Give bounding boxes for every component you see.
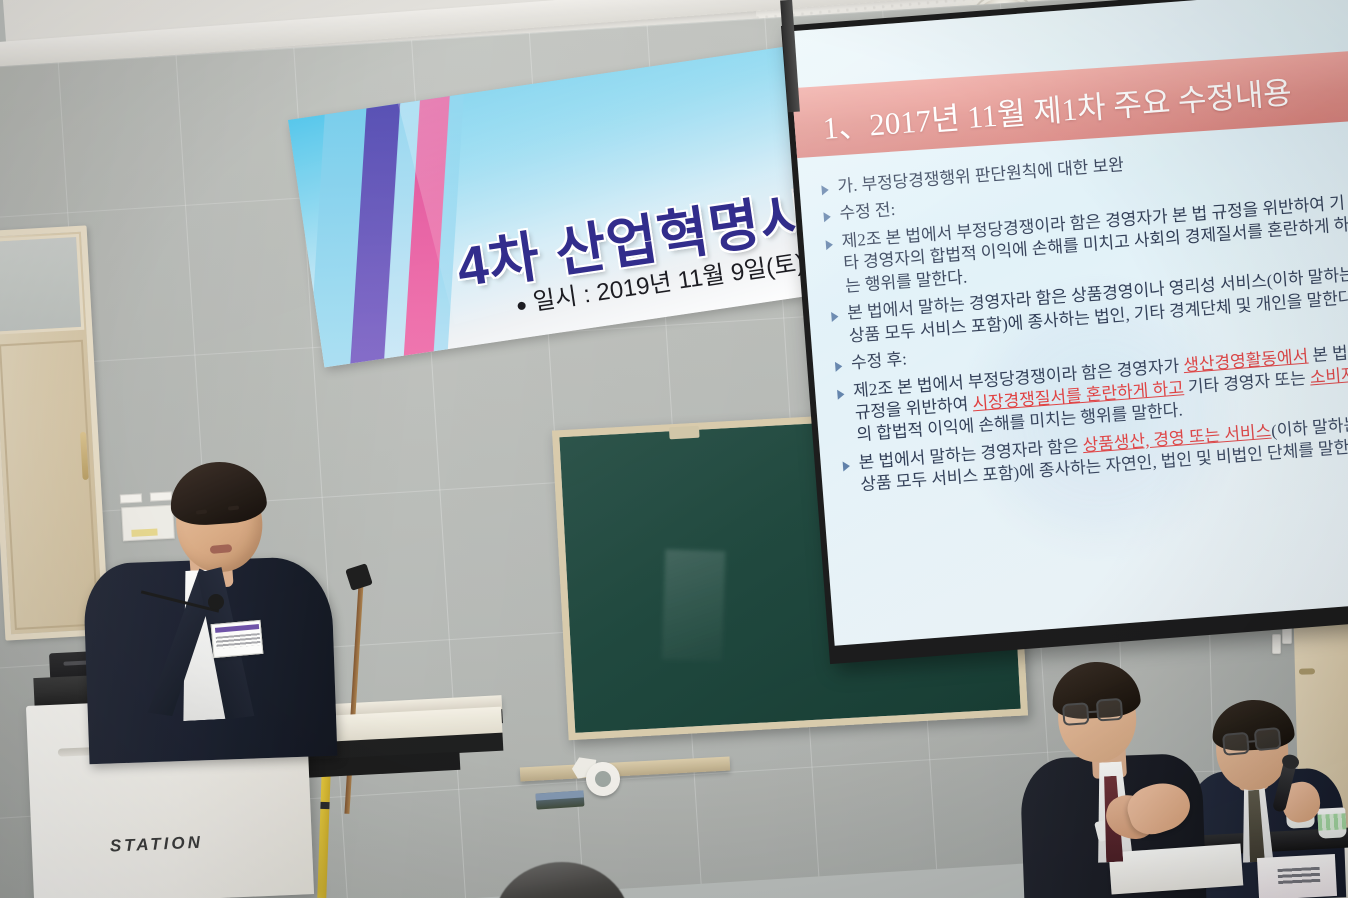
- chalkboard-clip: [669, 426, 700, 440]
- name-card-text: [1278, 867, 1321, 885]
- wall-tag-right: [150, 491, 172, 501]
- glasses-right-person-right-lens: [1254, 727, 1282, 751]
- projected-slide: 1、2017년 11월 제1차 주요 수정내용 가. 부정당경쟁행위 판단원칙에…: [787, 0, 1348, 646]
- wall-tag-left: [120, 493, 142, 503]
- microphone-capsule: [208, 594, 224, 610]
- wall-plate-yellow-strip: [131, 529, 157, 537]
- glasses-right-person-left-lens: [1222, 732, 1250, 756]
- banner-bullet-dot: [517, 301, 526, 310]
- panelist-name-card: [1257, 854, 1337, 898]
- door-inset-panel: [0, 340, 99, 630]
- glasses-right-lens: [1096, 698, 1123, 722]
- wall-switch-plate-screen-right[interactable]: [1272, 634, 1281, 654]
- right-door-handle[interactable]: [1299, 668, 1315, 674]
- speaker-name-badge: [211, 620, 264, 658]
- water-cup[interactable]: [1317, 807, 1347, 838]
- yellow-pole-band: [320, 802, 329, 809]
- door-glass-panel: [0, 234, 84, 335]
- projection-screen: 1、2017년 11월 제1차 주요 수정내용 가. 부정당경쟁행위 판단원칙에…: [781, 0, 1348, 664]
- badge-name-text: [216, 633, 261, 649]
- water-cup-green-pattern: [1318, 813, 1347, 830]
- badge-header-bar: [215, 624, 259, 633]
- chalkboard-glare: [662, 549, 726, 661]
- podium-brand-label: STATION: [109, 833, 203, 857]
- slide-body: 가. 부정당경쟁행위 판단원칙에 대한 보완 수정 전: 제2조 본 법에서 부…: [817, 137, 1348, 503]
- wall-signage-plate: [121, 505, 175, 542]
- conference-photo-scene: 4차 산업혁명시대 일시 : 2019년 11월 9일(토) 9:30~ 과제 …: [0, 0, 1348, 898]
- glasses-left-lens: [1062, 702, 1089, 726]
- blackboard-eraser[interactable]: [536, 790, 585, 809]
